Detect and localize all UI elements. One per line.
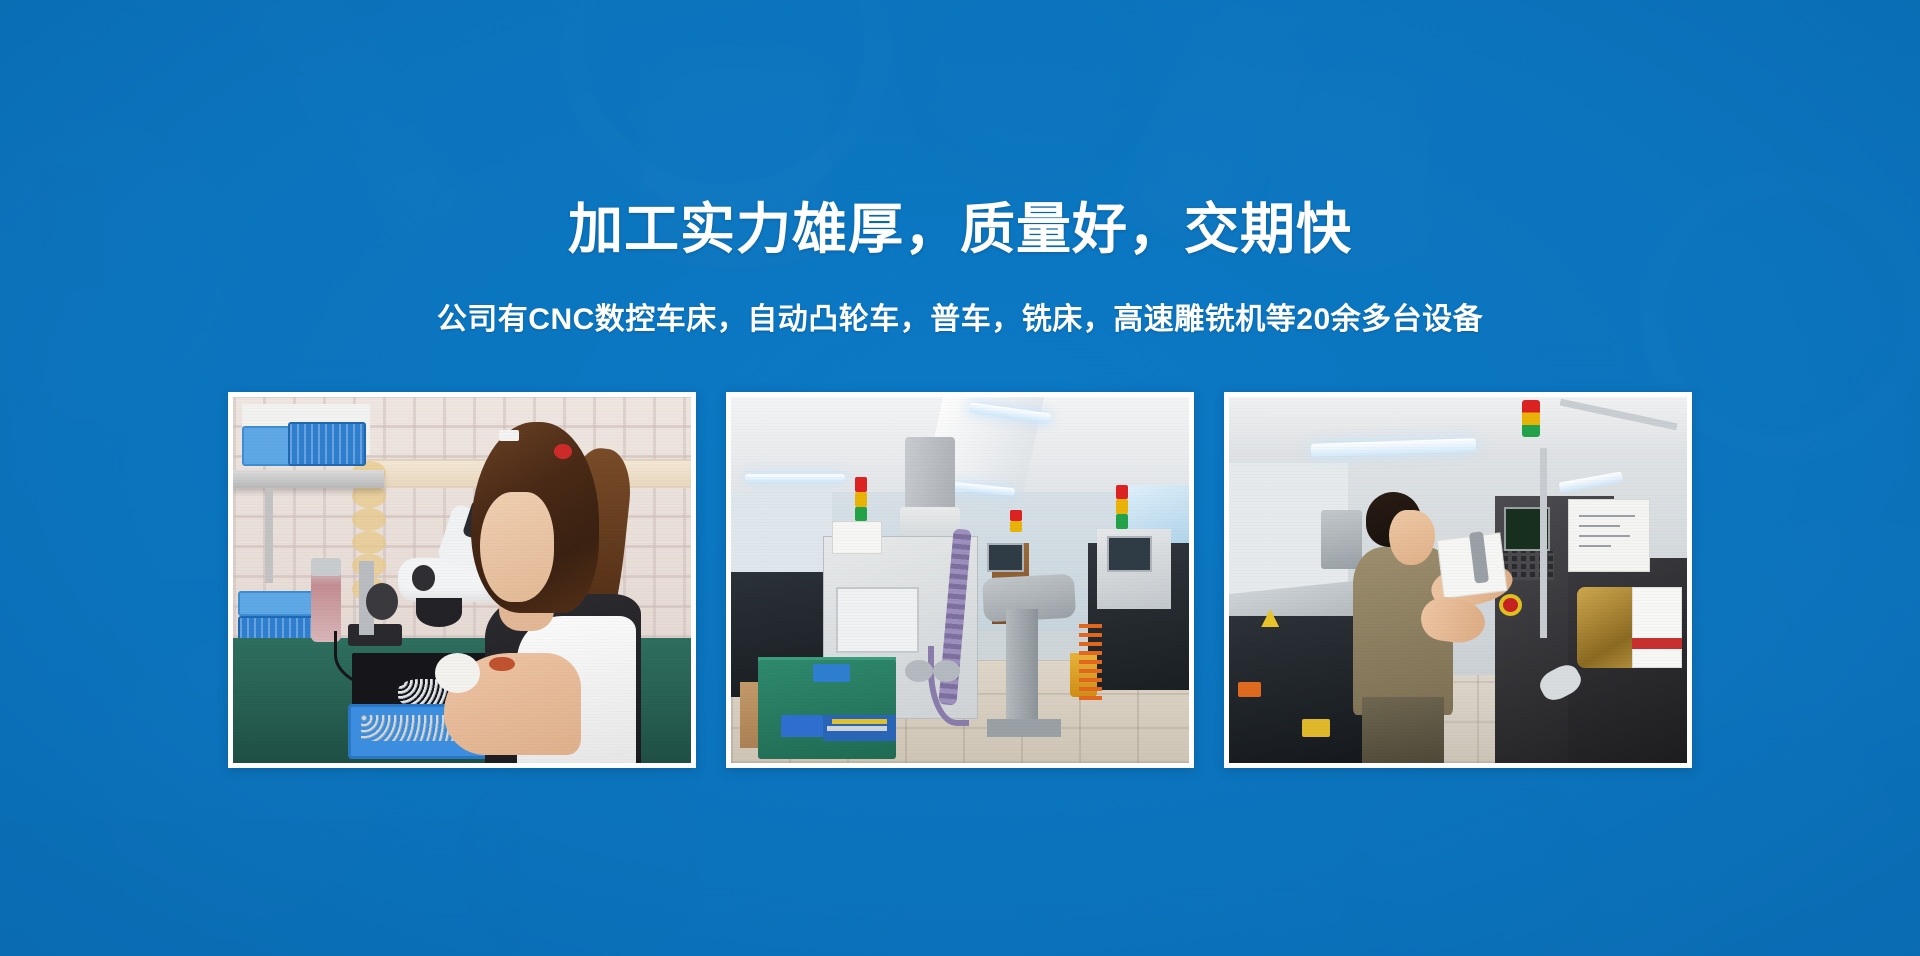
gallery-item-cnc-operator[interactable]: 操作员在数控机床操作面板前作业 xyxy=(1224,392,1692,768)
gallery-item-qc-microscope[interactable]: 质检员使用显微镜检查零件 xyxy=(228,392,696,768)
page-subtitle: 公司有CNC数控车床，自动凸轮车，普车，铣床，高速雕铣机等20余多台设备 xyxy=(437,294,1483,338)
photo-cnc-operator xyxy=(1229,397,1687,763)
gallery-item-cnc-workshop[interactable]: CNC数控车间设备全景 xyxy=(726,392,1194,768)
capability-banner: 加工实力雄厚，质量好，交期快 公司有CNC数控车床，自动凸轮车，普车，铣床，高速… xyxy=(0,0,1920,956)
photo-gallery: 质检员使用显微镜检查零件 xyxy=(228,392,1692,768)
page-title: 加工实力雄厚，质量好，交期快 xyxy=(568,198,1352,262)
photo-cnc-workshop xyxy=(731,397,1189,763)
photo-qc-microscope xyxy=(233,397,691,763)
